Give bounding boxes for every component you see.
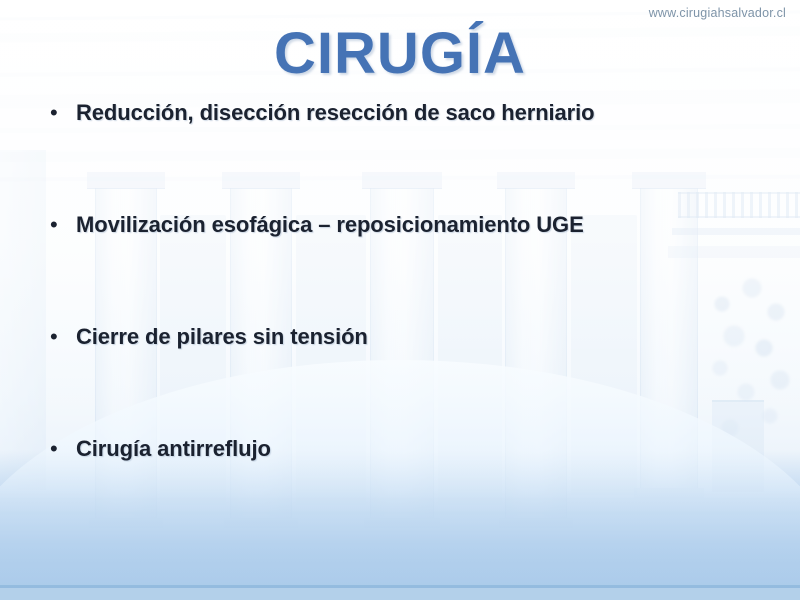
bullet-list: • Reducción, disección resección de saco… bbox=[50, 98, 750, 546]
list-item-label: Cierre de pilares sin tensión bbox=[76, 322, 368, 352]
list-item-label: Cirugía antirreflujo bbox=[76, 434, 271, 464]
slide-content: www.cirugiahsalvador.cl CIRUGÍA • Reducc… bbox=[0, 0, 800, 600]
list-item-label: Movilización esofágica – reposicionamien… bbox=[76, 210, 584, 240]
list-item: • Cirugía antirreflujo bbox=[50, 434, 750, 546]
list-item: • Reducción, disección resección de saco… bbox=[50, 98, 750, 210]
bullet-marker-icon: • bbox=[50, 210, 76, 240]
presentation-slide: www.cirugiahsalvador.cl CIRUGÍA • Reducc… bbox=[0, 0, 800, 600]
list-item: • Movilización esofágica – reposicionami… bbox=[50, 210, 750, 322]
bullet-marker-icon: • bbox=[50, 434, 76, 464]
slide-title: CIRUGÍA bbox=[0, 20, 800, 87]
bullet-marker-icon: • bbox=[50, 322, 76, 352]
bullet-marker-icon: • bbox=[50, 98, 76, 128]
list-item-label: Reducción, disección resección de saco h… bbox=[76, 98, 595, 128]
list-item: • Cierre de pilares sin tensión bbox=[50, 322, 750, 434]
site-url-label: www.cirugiahsalvador.cl bbox=[649, 6, 786, 20]
